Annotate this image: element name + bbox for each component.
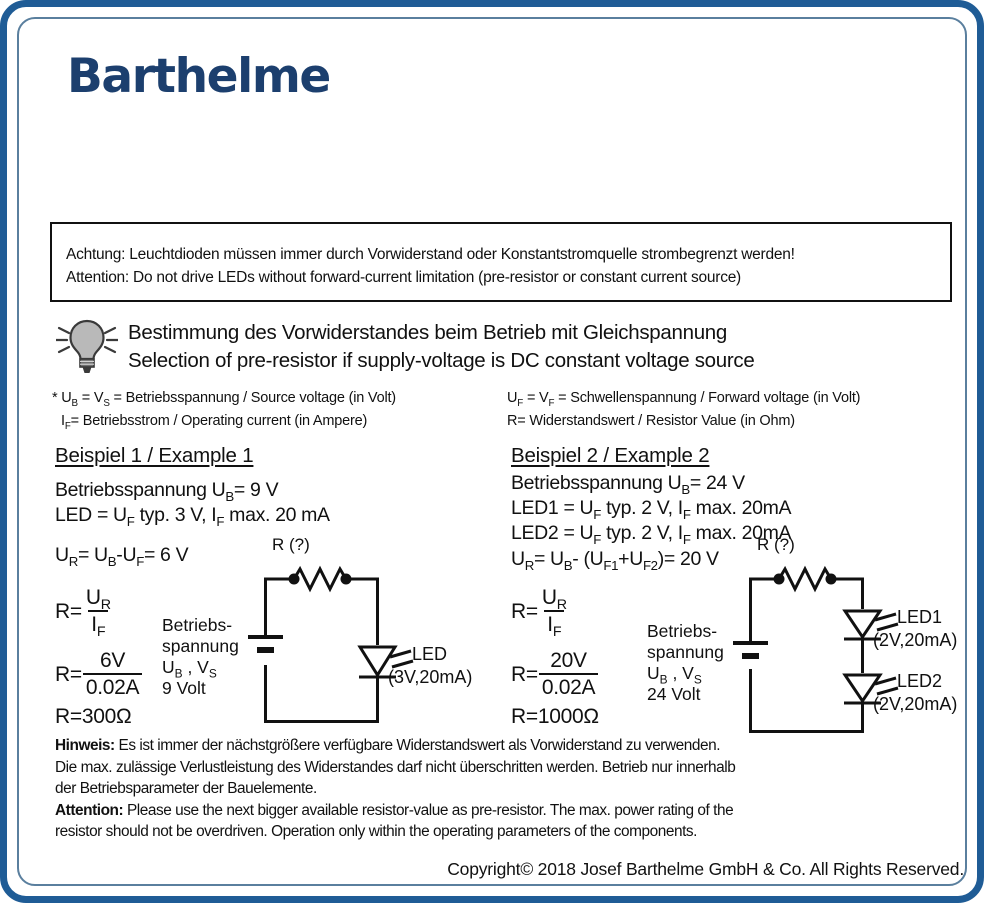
- fraction-numerator: 20V: [547, 650, 589, 673]
- note-label-english: Attention:: [55, 802, 123, 819]
- r-equals-label: R=: [55, 600, 82, 624]
- source-label-line2: spannung: [162, 636, 257, 657]
- source-label-line1: Betriebs-: [162, 615, 257, 636]
- example-2-specs: Betriebsspannung UB= 24 V LED1 = UF typ.…: [511, 471, 973, 546]
- example-1-formula-symbolic: R= UR IF: [55, 587, 142, 636]
- footer-note: Hinweis: Es ist immer der nächstgrößere …: [55, 735, 955, 843]
- fraction-numerator: UR: [83, 587, 114, 610]
- example-1-calculation: R= UR IF R= 6V 0.02A R=300Ω: [55, 587, 142, 729]
- example-1-formula-numeric: R= 6V 0.02A: [55, 650, 142, 699]
- example-1-supply-voltage: Betriebsspannung UB= 9 V: [55, 478, 507, 503]
- example-1-circuit-diagram: R (?) Betriebs- spannung UB , VS 9 Volt …: [174, 547, 504, 732]
- note-label-german: Hinweis:: [55, 737, 115, 754]
- example-2-calculation: R= UR IF R= 20V 0.02A R=1000Ω: [511, 587, 599, 729]
- example-1-led-spec: LED = UF typ. 3 V, IF max. 20 mA: [55, 503, 507, 528]
- example-2-supply-voltage: Betriebsspannung UB= 24 V: [511, 471, 973, 496]
- legend-item-if: IF= Betriebsstrom / Operating current (i…: [52, 410, 396, 433]
- example-2-led2-spec: (2V,20mA): [873, 694, 957, 715]
- symbol-legend: * UB = VS = Betriebsspannung / Source vo…: [50, 387, 960, 433]
- example-2-formula-numeric: R= 20V 0.02A: [511, 650, 599, 699]
- example-1-led-name: LED: [412, 644, 447, 665]
- fraction-20v-002a: 20V 0.02A: [539, 650, 598, 699]
- copyright-notice: Copyright© 2018 Josef Barthelme GmbH & C…: [19, 859, 964, 880]
- example-2-formula-symbolic: R= UR IF: [511, 587, 599, 636]
- fraction-6v-002a: 6V 0.02A: [83, 650, 142, 699]
- example-2-led1-name: LED1: [897, 607, 942, 628]
- example-1-led-spec: (3V,20mA): [388, 667, 472, 688]
- example-2-led1-spec: LED1 = UF typ. 2 V, IF max. 20mA: [511, 496, 973, 521]
- warning-box: Achtung: Leuchtdioden müssen immer durch…: [50, 222, 952, 302]
- legend-column-right: UF = VF = Schwellenspannung / Forward vo…: [507, 387, 860, 433]
- source-label-line3: UB , VS: [647, 663, 742, 684]
- note-english-line1: Attention: Please use the next bigger av…: [55, 800, 955, 822]
- example-2-circuit-diagram: R (?) Betriebs- spannung UB , VS 24 Volt…: [659, 547, 984, 742]
- fraction-denominator: IF: [88, 610, 108, 636]
- note-german-text1: Es ist immer der nächstgrößere verfügbar…: [115, 737, 720, 754]
- source-label-line2: spannung: [647, 642, 742, 663]
- lightbulb-icon: [56, 319, 118, 377]
- example-1-specs: Betriebsspannung UB= 9 V LED = UF typ. 3…: [55, 478, 507, 528]
- example-1-source-label: Betriebs- spannung UB , VS 9 Volt: [162, 615, 257, 699]
- document-page: Barthelme Achtung: Leuchtdioden müssen i…: [0, 0, 984, 903]
- fraction-denominator: 0.02A: [539, 673, 598, 699]
- example-2-result: R=1000Ω: [511, 705, 599, 729]
- example-2-resistor-label: R (?): [757, 535, 795, 555]
- source-label-line4: 24 Volt: [647, 684, 742, 705]
- example-1-result: R=300Ω: [55, 705, 142, 729]
- note-english-text1: Please use the next bigger available res…: [123, 802, 733, 819]
- company-logo: Barthelme: [67, 53, 330, 100]
- fraction-ur-if: UR IF: [539, 587, 570, 636]
- r-equals-label: R=: [511, 663, 538, 687]
- example-2-source-label: Betriebs- spannung UB , VS 24 Volt: [647, 621, 742, 705]
- r-equals-label: R=: [511, 600, 538, 624]
- note-german-line3: der Betriebsparameter der Bauelemente.: [55, 778, 955, 800]
- note-english-line2: resistor should not be overdriven. Opera…: [55, 821, 955, 843]
- fraction-numerator: 6V: [97, 650, 128, 673]
- fraction-ur-if: UR IF: [83, 587, 114, 636]
- example-1-resistor-label: R (?): [272, 535, 310, 555]
- legend-column-left: * UB = VS = Betriebsspannung / Source vo…: [52, 387, 396, 433]
- note-german-line1: Hinweis: Es ist immer der nächstgrößere …: [55, 735, 955, 757]
- warning-text-english: Attention: Do not drive LEDs without for…: [66, 269, 741, 287]
- example-2-led2-name: LED2: [897, 671, 942, 692]
- warning-text-german: Achtung: Leuchtdioden müssen immer durch…: [66, 246, 795, 264]
- example-1-title: Beispiel 1 / Example 1: [55, 443, 507, 469]
- source-label-line4: 9 Volt: [162, 678, 257, 699]
- inner-border-frame: Barthelme Achtung: Leuchtdioden müssen i…: [17, 17, 967, 886]
- document-content: Barthelme Achtung: Leuchtdioden müssen i…: [19, 19, 981, 900]
- r-equals-label: R=: [55, 663, 82, 687]
- example-2-led1-spec: (2V,20mA): [873, 630, 957, 651]
- example-2-led2-spec: LED2 = UF typ. 2 V, IF max. 20mA: [511, 521, 973, 546]
- legend-item-uf: UF = VF = Schwellenspannung / Forward vo…: [507, 387, 860, 410]
- note-german-line2: Die max. zulässige Verlustleistung des W…: [55, 757, 955, 779]
- example-2-title: Beispiel 2 / Example 2: [511, 443, 973, 469]
- headline-english: Selection of pre-resistor if supply-volt…: [128, 347, 754, 375]
- fraction-denominator: IF: [544, 610, 564, 636]
- fraction-denominator: 0.02A: [83, 673, 142, 699]
- headline-german: Bestimmung des Vorwiderstandes beim Betr…: [128, 319, 754, 347]
- source-label-line3: UB , VS: [162, 657, 257, 678]
- legend-item-ub: * UB = VS = Betriebsspannung / Source vo…: [52, 387, 396, 410]
- source-label-line1: Betriebs-: [647, 621, 742, 642]
- headline-text: Bestimmung des Vorwiderstandes beim Betr…: [128, 319, 754, 375]
- headline-row: Bestimmung des Vorwiderstandes beim Betr…: [50, 319, 952, 379]
- legend-item-r: R= Widerstandswert / Resistor Value (in …: [507, 410, 860, 433]
- fraction-numerator: UR: [539, 587, 570, 610]
